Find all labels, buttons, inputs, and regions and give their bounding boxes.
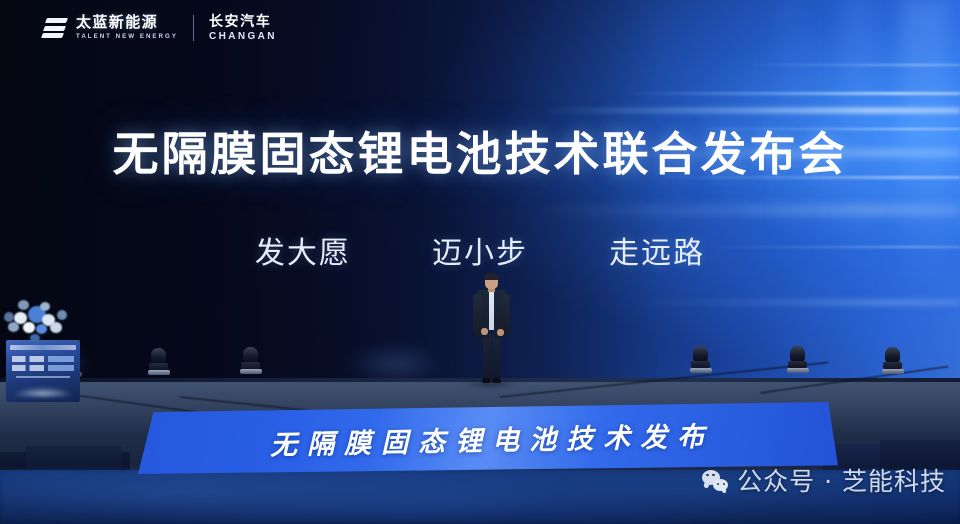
moving-head-light	[787, 346, 807, 373]
moving-head-light	[148, 348, 168, 375]
primary-brand-name-cn: 太蓝新能源	[76, 15, 178, 31]
backdrop-dark-vignette	[0, 0, 660, 392]
secondary-brand-name-cn: 长安汽车	[209, 14, 277, 29]
subtitle-part-2: 迈小步	[432, 228, 528, 272]
flower-arrangement	[2, 296, 82, 348]
podium-sign	[6, 340, 80, 402]
secondary-brand-name-en: CHANGAN	[209, 30, 277, 43]
moving-head-light	[240, 347, 260, 374]
backdrop-title: 无隔膜固态锂电池技术联合发布会	[0, 118, 960, 184]
primary-brand-block: 太蓝新能源 TALENT NEW ENERGY	[76, 15, 178, 41]
subtitle-part-1: 发大愿	[255, 228, 351, 272]
presenter	[472, 274, 510, 386]
subtitle-part-3: 走远路	[609, 228, 705, 272]
watermark: 公众号 · 芝能科技	[702, 462, 946, 498]
primary-brand-name-en: TALENT NEW ENERGY	[76, 33, 178, 42]
moving-head-light	[690, 346, 710, 373]
logo-lockup: 太蓝新能源 TALENT NEW ENERGY 长安汽车 CHANGAN	[42, 14, 277, 43]
logo-divider	[193, 15, 194, 41]
event-stage-photo: 太蓝新能源 TALENT NEW ENERGY 长安汽车 CHANGAN 无隔膜…	[0, 0, 960, 524]
talent-logo-mark-icon	[42, 18, 67, 38]
moving-head-light	[882, 347, 902, 374]
secondary-brand-block: 长安汽车 CHANGAN	[209, 14, 277, 43]
backdrop-subtitle: 发大愿 迈小步 走远路	[0, 228, 960, 272]
watermark-text: 公众号 · 芝能科技	[737, 462, 946, 498]
wechat-icon	[702, 470, 728, 491]
